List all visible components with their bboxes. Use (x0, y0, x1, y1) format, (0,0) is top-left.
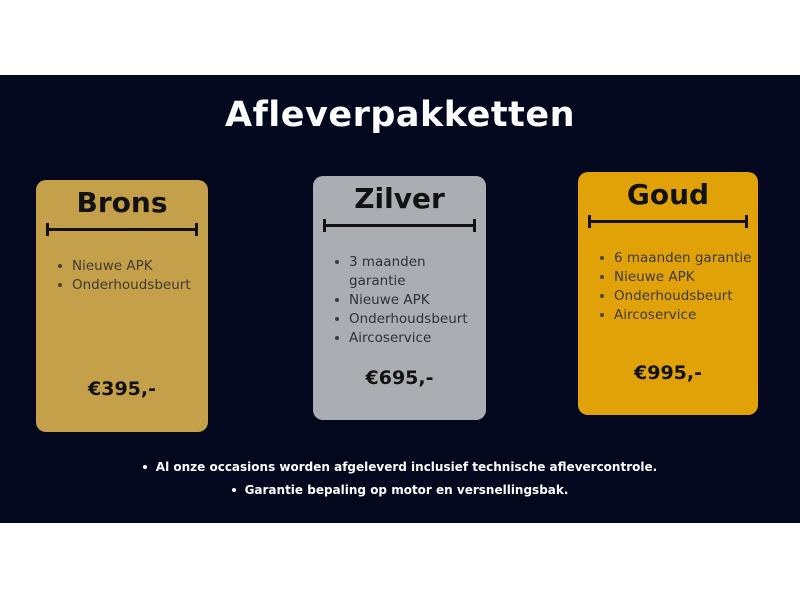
list-item: Aircoservice (335, 329, 486, 348)
list-item: Onderhoudsbeurt (600, 287, 758, 306)
footer-note-text: Al onze occasions worden afgeleverd incl… (156, 460, 657, 474)
list-item: Aircoservice (600, 306, 758, 325)
list-item: Nieuwe APK (600, 268, 758, 287)
package-title-goud: Goud (578, 172, 758, 209)
footer-note-item: Garantie bepaling op motor en versnellin… (0, 479, 800, 502)
package-card-zilver[interactable]: Zilver 3 maanden garantie Nieuwe APK Ond… (313, 176, 486, 420)
footer-note-text: Garantie bepaling op motor en versnellin… (245, 483, 569, 497)
package-price-zilver: €695,- (313, 367, 486, 389)
package-feature-list-zilver: 3 maanden garantie Nieuwe APK Onderhouds… (313, 231, 486, 348)
list-item: 6 maanden garantie (600, 249, 758, 268)
title-divider-icon (588, 215, 748, 227)
package-price-goud: €995,- (578, 362, 758, 384)
slide-canvas: Afleverpakketten Brons Nieuwe APK Onderh… (0, 75, 800, 523)
letterbox-top (0, 0, 800, 75)
package-card-brons[interactable]: Brons Nieuwe APK Onderhoudsbeurt €395,- (36, 180, 208, 432)
list-item: Onderhoudsbeurt (335, 310, 486, 329)
package-title-brons: Brons (36, 180, 208, 217)
bullet-icon (143, 465, 147, 469)
title-divider-icon (46, 223, 198, 235)
list-item: Onderhoudsbeurt (58, 276, 208, 295)
package-card-goud[interactable]: Goud 6 maanden garantie Nieuwe APK Onder… (578, 172, 758, 415)
package-price-brons: €395,- (36, 378, 208, 400)
title-divider-icon (323, 219, 476, 231)
footer-notes: Al onze occasions worden afgeleverd incl… (0, 456, 800, 502)
package-feature-list-goud: 6 maanden garantie Nieuwe APK Onderhouds… (578, 227, 758, 325)
package-title-zilver: Zilver (313, 176, 486, 213)
bullet-icon (232, 488, 236, 492)
list-item: Nieuwe APK (58, 257, 208, 276)
list-item: Nieuwe APK (335, 291, 486, 310)
letterbox-bottom (0, 523, 800, 600)
footer-note-item: Al onze occasions worden afgeleverd incl… (0, 456, 800, 479)
list-item: 3 maanden garantie (335, 253, 486, 291)
package-feature-list-brons: Nieuwe APK Onderhoudsbeurt (36, 235, 208, 295)
page-title: Afleverpakketten (0, 95, 800, 135)
